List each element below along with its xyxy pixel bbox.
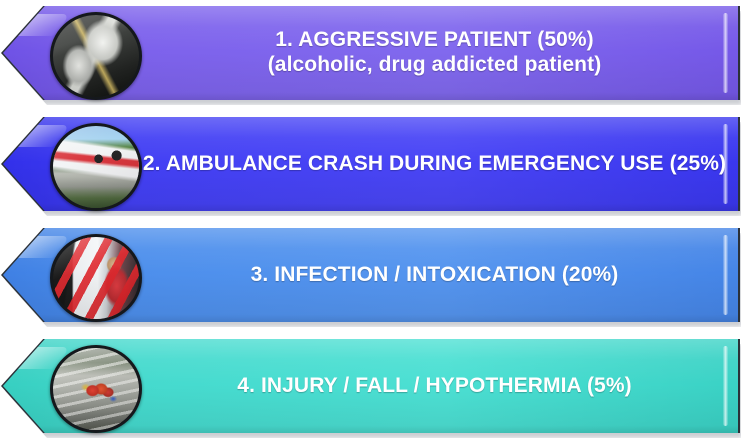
risk-ranking-diagram: 1. AGGRESSIVE PATIENT (50%) (alcoholic, … <box>0 0 741 444</box>
band-row-3[interactable]: 3. INFECTION / INTOXICATION (20%) <box>0 228 741 322</box>
infection-intoxication-photo-image <box>53 237 139 319</box>
injury-fall-hypothermia-photo-image <box>53 348 139 430</box>
ambulance-crash-photo <box>50 123 142 211</box>
injury-fall-hypothermia-photo <box>50 345 142 433</box>
band-row-4[interactable]: 4. INJURY / FALL / HYPOTHERMIA (5%) <box>0 339 741 433</box>
aggressive-patient-photo-image <box>53 15 139 97</box>
band-row-1[interactable]: 1. AGGRESSIVE PATIENT (50%) (alcoholic, … <box>0 6 741 100</box>
ambulance-crash-photo-image <box>53 126 139 208</box>
aggressive-patient-photo <box>50 12 142 100</box>
band-row-2[interactable]: 2. AMBULANCE CRASH DURING EMERGENCY USE … <box>0 117 741 211</box>
infection-intoxication-photo <box>50 234 142 322</box>
